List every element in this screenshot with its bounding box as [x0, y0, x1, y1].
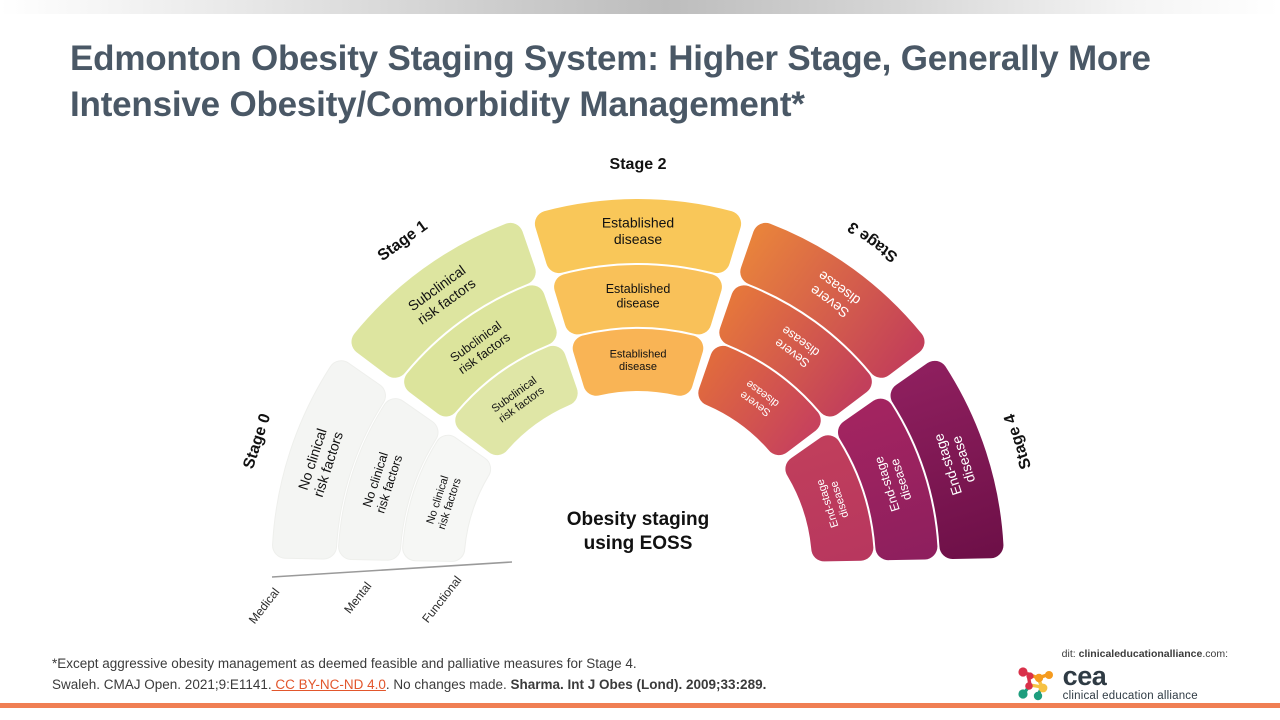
- credit-domain: clinicaleducationalliance: [1079, 648, 1203, 660]
- footnote-line-2: Swaleh. CMAJ Open. 2021;9:E1141. CC BY-N…: [52, 675, 952, 696]
- axis-label-functional: Functional: [419, 573, 464, 625]
- axis-label-medical: Medical: [246, 585, 282, 626]
- molecule-icon: [1016, 665, 1056, 701]
- citation-swaleh: Swaleh. CMAJ Open. 2021;9:E1141.: [52, 677, 272, 692]
- center-label-line2: using EOSS: [584, 533, 693, 554]
- stage-name-stage-0: Stage 0: [240, 412, 274, 471]
- arc-segment[interactable]: [573, 329, 704, 396]
- axis-label-mental: Mental: [341, 579, 374, 616]
- arc-segment[interactable]: [535, 199, 741, 273]
- stage-name-stage-2: Stage 2: [610, 156, 667, 173]
- stage-name-stage-3: Stage 3: [845, 218, 901, 265]
- footnote-line-1: *Except aggressive obesity management as…: [52, 654, 952, 675]
- arc-segment[interactable]: [554, 265, 722, 334]
- stage-name-stage-4: Stage 4: [1001, 412, 1035, 471]
- citation-sharma: Sharma. Int J Obes (Lond). 2009;33:289.: [511, 677, 767, 692]
- logo-name: cea: [1063, 663, 1198, 690]
- credit-suffix: .com:: [1202, 648, 1228, 660]
- footnote: *Except aggressive obesity management as…: [52, 654, 952, 696]
- dimension-axis-line: [272, 562, 512, 577]
- dimension-axis-group: MedicalMentalFunctional: [246, 562, 512, 626]
- credit-prefix: dit:: [1062, 648, 1079, 660]
- logo-tagline: clinical education alliance: [1063, 691, 1198, 703]
- arc-diagram-svg: No clinicalrisk factorsSubclinicalrisk f…: [0, 140, 1280, 660]
- bottom-accent-bar: [0, 703, 1280, 708]
- cea-logo: cea clinical education alliance: [1016, 663, 1228, 703]
- center-label-line1: Obesity staging: [567, 509, 710, 530]
- no-changes-text: . No changes made.: [386, 677, 511, 692]
- credit-block: dit: clinicaleducationalliance.com:: [1016, 648, 1228, 703]
- top-accent-bar: [0, 0, 1280, 14]
- stage-name-stage-1: Stage 1: [375, 218, 431, 265]
- page-title: Edmonton Obesity Staging System: Higher …: [70, 36, 1180, 127]
- logo-wordmark: cea clinical education alliance: [1063, 663, 1198, 703]
- eoss-arc-diagram: No clinicalrisk factorsSubclinicalrisk f…: [0, 140, 1280, 660]
- license-link[interactable]: CC BY-NC-ND 4.0: [272, 677, 386, 692]
- credit-url-line: dit: clinicaleducationalliance.com:: [1062, 648, 1228, 660]
